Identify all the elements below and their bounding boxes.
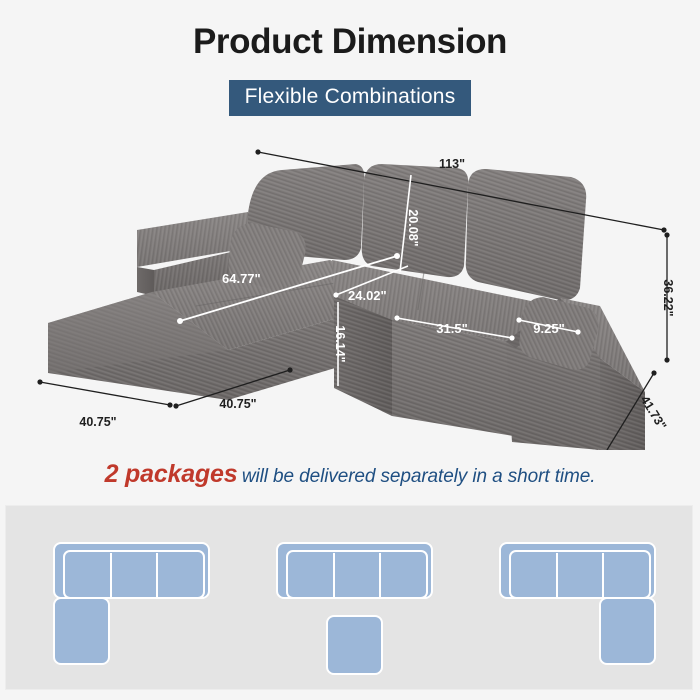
chaise-piece — [600, 598, 655, 664]
config-ottoman[interactable] — [277, 543, 432, 674]
dimension-seat-height-label: 16.14" — [333, 325, 347, 362]
combinations-panel — [5, 505, 693, 690]
dimension-seat-depth-label: 24.02" — [348, 288, 387, 303]
ottoman-piece — [327, 616, 382, 674]
dimension-chaise-depth-front-label: 40.75" — [79, 415, 116, 429]
sofa-seat-area — [287, 551, 427, 598]
caption-highlight: 2 packages — [105, 460, 238, 488]
config-left-chaise[interactable] — [54, 543, 209, 664]
chaise-piece — [54, 598, 109, 664]
page-title: Product Dimension — [0, 22, 700, 62]
combinations-svg — [6, 506, 692, 689]
dimension-seat-width-label: 31.5" — [436, 321, 467, 336]
dimension-back-cushion-height-label: 20.08" — [406, 209, 420, 246]
sofa-seat-area — [510, 551, 650, 598]
sofa-seat-area — [64, 551, 204, 598]
sofa-illustration: 113" 20.08" 64.77" 24.02" — [0, 120, 700, 450]
subtitle-badge-container: Flexible Combinations — [0, 80, 700, 116]
dimension-overall-width-label: 113" — [439, 157, 465, 171]
dimension-armrest-width-label: 9.25" — [533, 321, 564, 336]
product-dimension-infographic: Product Dimension Flexible Combinations — [0, 0, 700, 700]
config-right-chaise[interactable] — [500, 543, 655, 664]
dimension-overall-height-label: 36.22" — [661, 279, 675, 316]
subtitle-badge: Flexible Combinations — [229, 80, 472, 116]
sofa-body — [48, 164, 645, 450]
sofa-svg: 113" 20.08" 64.77" 24.02" — [0, 120, 700, 450]
dimension-chaise-length-label: 64.77" — [222, 271, 261, 286]
dimension-chaise-depth-side-label: 40.75" — [219, 397, 256, 411]
dimension-overall-height: 36.22" — [661, 232, 675, 362]
caption-rest: will be delivered separately in a short … — [242, 466, 596, 487]
delivery-caption: 2 packages will be delivered separately … — [0, 460, 700, 489]
